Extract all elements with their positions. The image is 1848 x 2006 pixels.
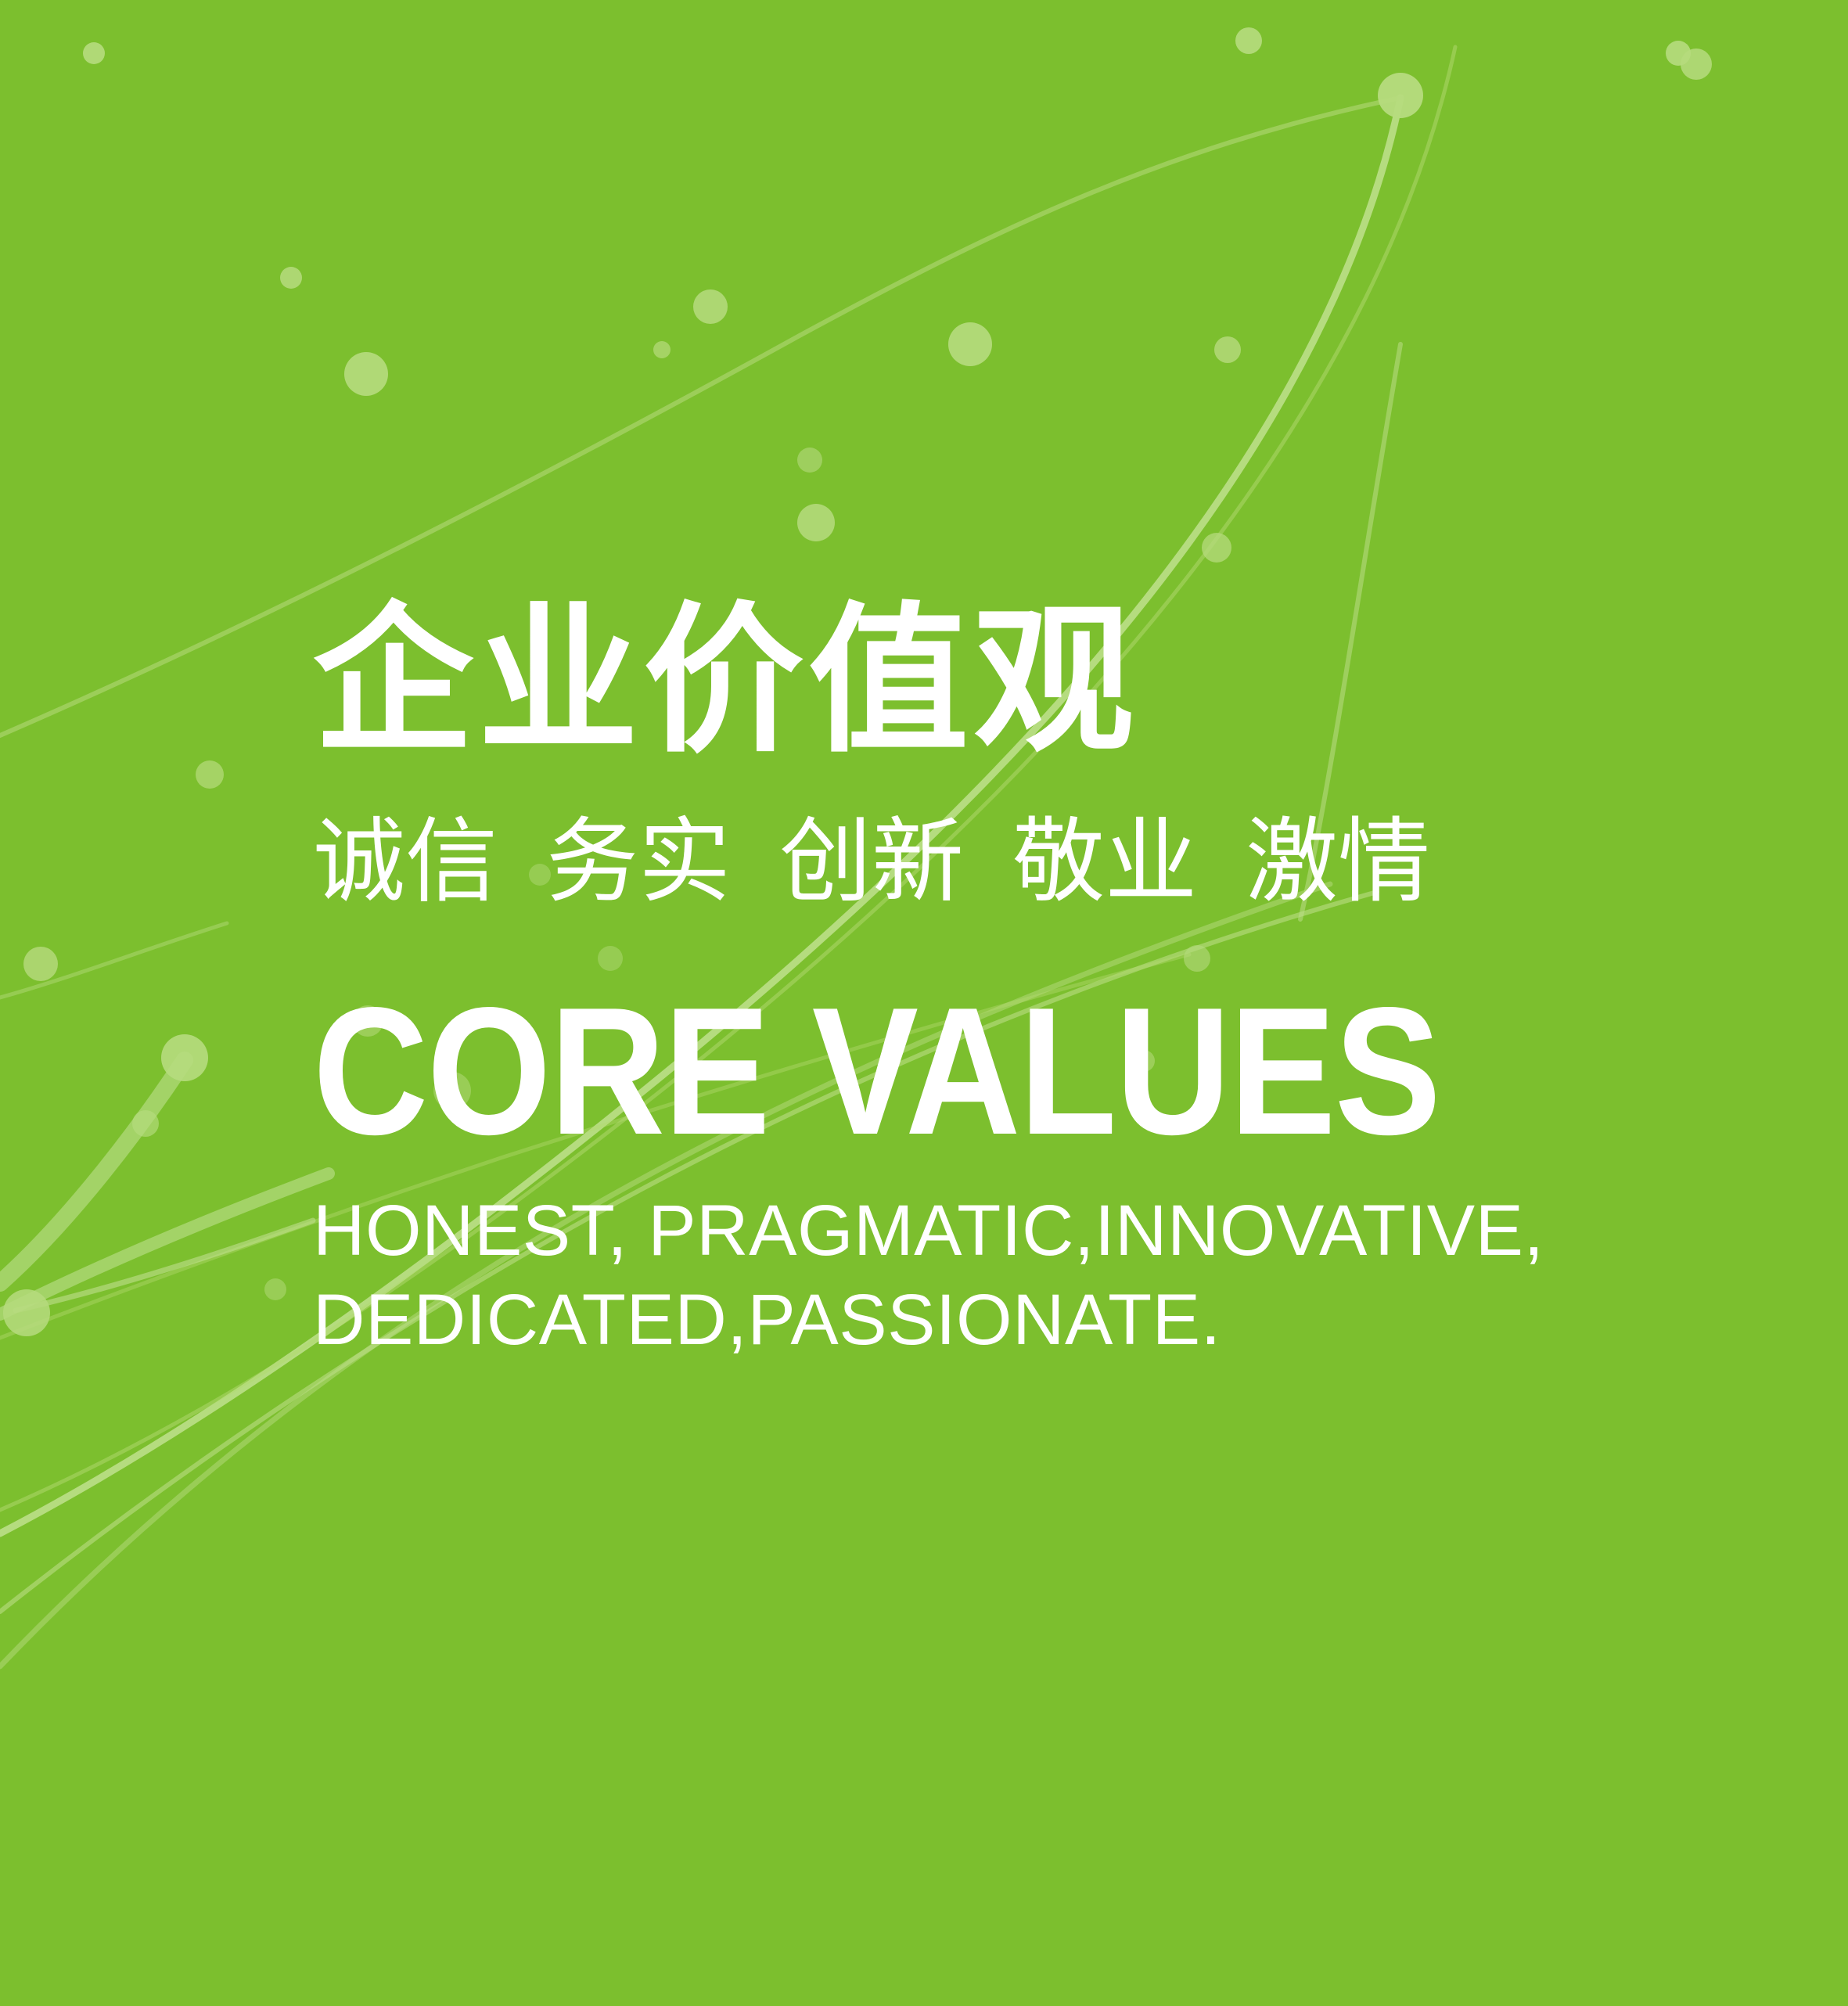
network-node	[693, 289, 728, 324]
body-text-english: HONEST, PRAGMATIC,INNOVATIVE, DEDICATED,…	[313, 1186, 1721, 1364]
value-word-5: 激情	[1246, 805, 1430, 921]
text-content-block: 企业价值观 诚信务实创新敬业激情 CORE VALUES HONEST, PRA…	[313, 595, 1721, 1364]
network-node	[653, 341, 671, 358]
value-word-3: 创新	[779, 805, 964, 921]
value-word-4: 敬业	[1012, 805, 1197, 921]
network-node	[1214, 336, 1241, 363]
subtitle-chinese: 诚信务实创新敬业激情	[313, 805, 1721, 921]
network-node	[196, 760, 224, 789]
network-node	[1681, 49, 1712, 80]
network-node	[948, 322, 992, 366]
page-title-english: CORE VALUES	[313, 988, 1552, 1155]
network-node	[797, 448, 822, 473]
value-word-2: 务实	[546, 805, 731, 921]
network-node	[344, 352, 388, 396]
network-node	[3, 1289, 50, 1336]
body-line-2: DEDICATED,PASSIONATE.	[313, 1275, 1721, 1364]
network-node	[23, 947, 58, 981]
network-node	[161, 1034, 208, 1081]
network-node	[264, 1278, 286, 1300]
core-values-poster: 企业价值观 诚信务实创新敬业激情 CORE VALUES HONEST, PRA…	[0, 0, 1848, 2006]
network-node	[280, 267, 302, 289]
network-node	[132, 1110, 159, 1137]
network-node	[1202, 533, 1231, 563]
network-node	[1378, 73, 1423, 118]
network-node	[1235, 27, 1262, 54]
body-line-1: HONEST, PRAGMATIC,INNOVATIVE,	[313, 1186, 1721, 1275]
value-word-1: 诚信	[313, 805, 498, 921]
network-node	[797, 504, 835, 541]
network-node	[1666, 41, 1691, 66]
network-node	[83, 42, 105, 64]
page-title-chinese: 企业价值观	[313, 595, 1721, 768]
